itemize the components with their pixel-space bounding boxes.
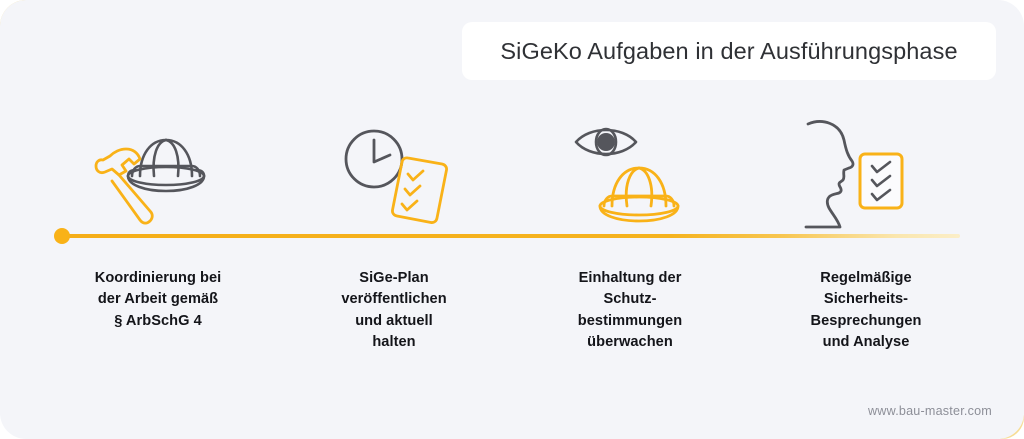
title-card: SiGeKo Aufgaben in der Ausführungsphase: [462, 22, 996, 80]
step-3-label: Einhaltung der Schutz- bestimmungen über…: [578, 268, 682, 354]
hammer-and-hardhat-svg: [88, 114, 228, 234]
steps-row: Koordinierung bei der Arbeit gemäß § Arb…: [40, 110, 984, 370]
step-4: Regelmäßige Sicherheits- Besprechungen u…: [748, 110, 984, 370]
face-profile-icon: [806, 122, 853, 227]
footer-website: www.bau-master.com: [868, 404, 992, 418]
clock-and-checklist-svg: [324, 114, 464, 234]
face-profile-and-checklist-svg: [796, 114, 936, 234]
page-title: SiGeKo Aufgaben in der Ausführungsphase: [500, 38, 957, 65]
step-3: Einhaltung der Schutz- bestimmungen über…: [512, 110, 748, 370]
face-profile-and-checklist-icon: [791, 110, 941, 234]
step-4-label: Regelmäßige Sicherheits- Besprechungen u…: [811, 268, 922, 354]
clock-icon: [346, 131, 402, 187]
eye-and-hardhat-icon: [555, 110, 705, 234]
step-1-label: Koordinierung bei der Arbeit gemäß § Arb…: [95, 268, 222, 332]
eye-pupil-icon: [597, 133, 615, 151]
hammer-icon: [96, 149, 152, 223]
hard-hat-icon: [600, 168, 678, 221]
step-1: Koordinierung bei der Arbeit gemäß § Arb…: [40, 110, 276, 370]
infographic-stage: SiGeKo Aufgaben in der Ausführungsphase: [0, 0, 1024, 439]
checklist-icon: [392, 158, 446, 223]
step-2-label: SiGe-Plan veröffentlichen und aktuell ha…: [341, 268, 446, 354]
hammer-and-hardhat-icon: [83, 110, 233, 234]
checklist-icon: [860, 154, 902, 208]
clock-and-checklist-icon: [319, 110, 469, 234]
eye-and-hardhat-svg: [560, 114, 700, 234]
timeline-start-dot: [54, 228, 70, 244]
eye-icon: [576, 129, 636, 155]
hard-hat-icon: [128, 140, 204, 191]
step-2: SiGe-Plan veröffentlichen und aktuell ha…: [276, 110, 512, 370]
